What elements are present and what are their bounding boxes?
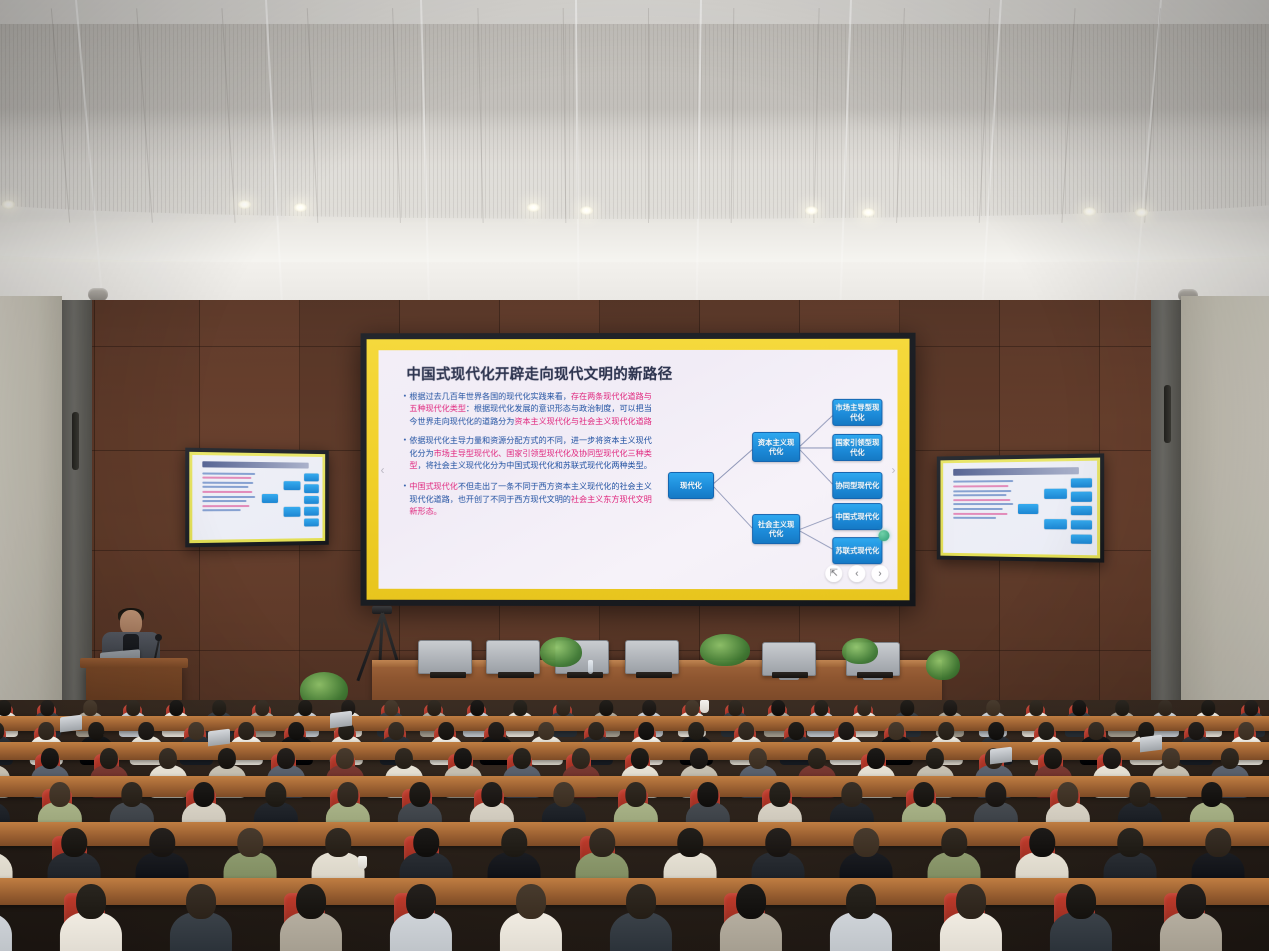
audience-member-head (1057, 782, 1078, 807)
ceiling-panel-band (0, 24, 1269, 219)
audience-member-head (638, 722, 654, 740)
water-bottle (588, 660, 593, 674)
audience-member-head (1088, 722, 1104, 740)
audience-member-head (942, 828, 967, 857)
audience-member-head (854, 828, 879, 857)
right-door[interactable] (1151, 300, 1181, 700)
audience-member-head (265, 782, 286, 807)
audience-member-head (857, 700, 871, 716)
right-door-handle[interactable] (1164, 385, 1171, 443)
slide-title: 中国式现代化开辟走向现代文明的新路径 (406, 363, 672, 384)
audience-member-head (926, 748, 944, 769)
audience-member-head (513, 700, 527, 716)
ceiling-light-cove (0, 222, 1269, 264)
decorative-plant (700, 634, 750, 666)
audience-member-head (690, 748, 708, 769)
audience-member-head (83, 700, 97, 716)
audience-member-head (481, 782, 502, 807)
presentation-slide[interactable]: 中国式现代化开辟走向现代文明的新路径 •根据过去几百年世界各国的现代化实践来看，… (379, 350, 898, 589)
audience-member-head (1221, 748, 1239, 769)
audience-member-head (678, 828, 703, 857)
audience-member-head (1201, 782, 1222, 807)
audience-member-head (238, 722, 254, 740)
audience-member (610, 884, 672, 951)
audience-member-head (590, 828, 615, 857)
slide-diagram: 现代化 资本主义现代化 社会主义现代化 市场主导型现代化 国家引领型现代化 协同… (666, 390, 888, 580)
stage-nameplate (567, 672, 603, 678)
slide-edge-prev-icon[interactable]: ‹ (381, 463, 385, 477)
lecture-hall-scene: 中国式现代化开辟走向现代文明的新路径 •根据过去几百年世界各国的现代化实践来看，… (0, 0, 1269, 951)
left-side-wall (0, 296, 62, 726)
audience-member-head (749, 748, 767, 769)
audience-member-head (296, 884, 326, 919)
audience-member-head (186, 884, 216, 919)
audience-laptop[interactable] (60, 715, 82, 733)
audience-member-head (769, 782, 790, 807)
audience-member-head (326, 828, 351, 857)
audience-member (0, 884, 12, 951)
ceiling-downlight (805, 206, 818, 215)
slide-bullet: •根据过去几百年世界各国的现代化实践来看，存在两条现代化道路与五种现代化类型：根… (400, 391, 658, 428)
audience-member-head (688, 722, 704, 740)
audience-laptop[interactable] (208, 729, 230, 747)
audience-member-head (1115, 700, 1129, 716)
audience-member-head (1072, 700, 1086, 716)
slide-edge-next-icon[interactable]: › (891, 462, 895, 476)
audience-member-head (277, 748, 295, 769)
audience-member-head (502, 828, 527, 857)
slide-bullet-list: •根据过去几百年世界各国的现代化实践来看，存在两条现代化道路与五种现代化类型：根… (400, 391, 658, 526)
audience-member-head (1044, 748, 1062, 769)
right-monitor-slide (943, 461, 1097, 556)
slide-bullet-text: 中国式现代化不但走出了一条不同于西方资本主义现代化的社会主义现代化道路，也开创了… (409, 481, 658, 518)
audience-member-head (838, 722, 854, 740)
audience-member-head (414, 828, 439, 857)
ceiling-downlight (1135, 208, 1148, 217)
right-monitor-frame (940, 458, 1100, 559)
decorative-plant (540, 637, 582, 667)
bullet-dot-icon: • (400, 481, 409, 518)
audience-member-head (40, 700, 54, 716)
left-monitor-frame (189, 452, 325, 543)
audience-member-head (985, 782, 1006, 807)
right-monitor-slide-title (953, 468, 1079, 476)
ceiling-downlight (580, 206, 593, 215)
audience-member-head (814, 700, 828, 716)
ceiling-downlight (527, 203, 540, 212)
decorative-plant (842, 638, 878, 664)
diagram-node-leaf-2[interactable]: 协同型现代化 (832, 472, 882, 499)
audience-member-head (88, 722, 104, 740)
projection-screen[interactable]: 中国式现代化开辟走向现代文明的新路径 •根据过去几百年世界各国的现代化实践来看，… (361, 333, 916, 607)
audience-member-head (238, 828, 263, 857)
audience-member-head (1206, 828, 1231, 857)
audience-member-head (728, 700, 742, 716)
audience-member-head (956, 884, 986, 919)
audience-member-head (788, 722, 804, 740)
audience-member-head (808, 748, 826, 769)
next-slide-icon[interactable]: › (871, 565, 888, 582)
audience-member-head (516, 884, 546, 919)
audience-member-head (1029, 700, 1043, 716)
audience-member-head (41, 748, 59, 769)
left-side-monitor (185, 448, 329, 548)
podium-top-surface (80, 658, 188, 668)
audience-member-head (631, 748, 649, 769)
audience-member-head (943, 700, 957, 716)
slide-status-indicator (878, 530, 889, 541)
audience-member-head (49, 782, 70, 807)
audience-member-head (938, 722, 954, 740)
audience-member-head (188, 722, 204, 740)
audience-member-head (900, 700, 914, 716)
audience-member-head (553, 782, 574, 807)
audience-member-head (913, 782, 934, 807)
audience-member (60, 884, 122, 951)
diagram-node-leaf-4[interactable]: 苏联式现代化 (832, 537, 882, 564)
audience-member-head (1188, 722, 1204, 740)
bullet-dot-icon: • (400, 435, 409, 472)
paper-cup (358, 856, 367, 869)
stage-nameplate (772, 672, 808, 678)
diagram-node-leaf-1[interactable]: 国家引领型现代化 (832, 434, 882, 461)
audience-member-head (470, 700, 484, 716)
audience-member-head (846, 884, 876, 919)
audience-laptop[interactable] (1140, 735, 1162, 753)
audience-member-head (0, 700, 11, 716)
stage-monitor[interactable] (486, 640, 540, 674)
audience-member-head (1158, 700, 1172, 716)
audience-member-head (388, 722, 404, 740)
audience-member-head (384, 700, 398, 716)
audience-member-head (159, 748, 177, 769)
audience-member-head (1030, 828, 1055, 857)
audience-member (280, 884, 342, 951)
microphone-icon (155, 634, 162, 641)
right-monitor-slide-text (953, 480, 1013, 521)
audience-member-head (1129, 782, 1150, 807)
audience-member (500, 884, 562, 951)
audience-member-head (1244, 700, 1258, 716)
diagram-node-branch-1[interactable]: 社会主义现代化 (752, 514, 800, 544)
audience-member-head (771, 700, 785, 716)
audience-member-head (193, 782, 214, 807)
stage-monitor[interactable] (418, 640, 472, 674)
audience-member (1160, 884, 1222, 951)
audience-member-head (288, 722, 304, 740)
prev-slide-icon[interactable]: ‹ (848, 565, 865, 582)
audience-laptop[interactable] (990, 747, 1012, 765)
audience-member-body (0, 912, 12, 951)
audience-member-head (556, 700, 570, 716)
audience-member-head (1118, 828, 1143, 857)
audience-member (830, 884, 892, 951)
audience-member-head (298, 700, 312, 716)
slide-bullet: •中国式现代化不但走出了一条不同于西方资本主义现代化的社会主义现代化道路，也开创… (400, 481, 658, 518)
audience-member (720, 884, 782, 951)
audience-member-head (626, 884, 656, 919)
audience-member-head (121, 782, 142, 807)
audience-member-head (255, 700, 269, 716)
diagram-node-branch-0[interactable]: 资本主义现代化 (752, 432, 800, 462)
audience-member-head (513, 748, 531, 769)
left-monitor-slide-text (202, 472, 255, 514)
audience-desk (0, 822, 1269, 846)
audience-member-head (409, 782, 430, 807)
diagram-node-leaf-0[interactable]: 市场主导型现代化 (832, 399, 882, 426)
left-monitor-slide (192, 455, 322, 540)
audience-member-head (1162, 748, 1180, 769)
paper-cup (700, 700, 709, 713)
stage-nameplate (498, 672, 534, 678)
right-side-monitor (937, 453, 1104, 562)
ceiling-downlight (2, 200, 15, 209)
audience-member-head (138, 722, 154, 740)
audience-member-head (766, 828, 791, 857)
audience-member-head (336, 748, 354, 769)
audience-member-head (988, 722, 1004, 740)
slide-bullet: •依据现代化主导力量和资源分配方式的不同，进一步将资本主义现代化分为市场主导型现… (400, 435, 658, 472)
audience-member-head (1176, 884, 1206, 919)
audience-member-head (1201, 700, 1215, 716)
slide-bullet-text: 根据过去几百年世界各国的现代化实践来看，存在两条现代化道路与五种现代化类型：根据… (409, 391, 658, 428)
stage-nameplate (857, 672, 893, 678)
audience-member-head (100, 748, 118, 769)
audience-member (390, 884, 452, 951)
audience-member-head (736, 884, 766, 919)
audience-member-head (1238, 722, 1254, 740)
audience-member (170, 884, 232, 951)
audience-member-head (406, 884, 436, 919)
right-side-wall (1181, 296, 1269, 726)
stage-monitor[interactable] (625, 640, 679, 674)
audience-member-head (841, 782, 862, 807)
audience-member (940, 884, 1002, 951)
bullet-dot-icon: • (400, 391, 409, 428)
audience-member-head (38, 722, 54, 740)
audience-laptop[interactable] (330, 711, 352, 729)
audience-member-head (588, 722, 604, 740)
audience-member-head (395, 748, 413, 769)
audience-member (1050, 884, 1112, 951)
ceiling-downlight (862, 208, 875, 217)
audience-member-head (599, 700, 613, 716)
decorative-plant (926, 650, 960, 680)
left-door[interactable] (62, 300, 92, 700)
audience-member-head (488, 722, 504, 740)
audience-member-head (337, 782, 358, 807)
audience-member-head (738, 722, 754, 740)
audience-member-head (867, 748, 885, 769)
audience-member-head (538, 722, 554, 740)
audience-member-head (697, 782, 718, 807)
audience-member-head (642, 700, 656, 716)
audience-member-head (986, 700, 1000, 716)
audience-member-head (126, 700, 140, 716)
audience-member-head (438, 722, 454, 740)
audience-member-head (169, 700, 183, 716)
stage-nameplate (430, 672, 466, 678)
slide-bullet-text: 依据现代化主导力量和资源分配方式的不同，进一步将资本主义现代化分为市场主导型现代… (409, 435, 658, 472)
ceiling-downlight (294, 203, 307, 212)
ceiling-panel-line (648, 8, 649, 223)
audience-member-head (888, 722, 904, 740)
audience-member-head (625, 782, 646, 807)
audience-member-head (218, 748, 236, 769)
audience-member-head (76, 884, 106, 919)
stage-nameplate (636, 672, 672, 678)
slide-controls: ⇱ ‹ › (825, 565, 888, 582)
ceiling (0, 0, 1269, 330)
diagram-node-leaf-3[interactable]: 中国式现代化 (832, 503, 882, 530)
audience-member-head (212, 700, 226, 716)
audience-member-head (62, 828, 87, 857)
audience-member-head (1066, 884, 1096, 919)
audience-member-head (1038, 722, 1054, 740)
audience-member-head (572, 748, 590, 769)
audience-member-head (685, 700, 699, 716)
share-icon[interactable]: ⇱ (825, 565, 842, 582)
audience-member-head (150, 828, 175, 857)
left-monitor-slide-title (202, 461, 309, 468)
audience-member-head (454, 748, 472, 769)
screen-yellow-frame: 中国式现代化开辟走向现代文明的新路径 •根据过去几百年世界各国的现代化实践来看，… (367, 339, 910, 601)
audience-member-head (427, 700, 441, 716)
audience-member-head (1103, 748, 1121, 769)
diagram-node-root[interactable]: 现代化 (668, 472, 714, 499)
ceiling-downlight (1083, 207, 1096, 216)
left-door-handle[interactable] (72, 412, 79, 470)
ceiling-downlight (238, 200, 251, 209)
stage-monitor[interactable] (762, 642, 816, 676)
